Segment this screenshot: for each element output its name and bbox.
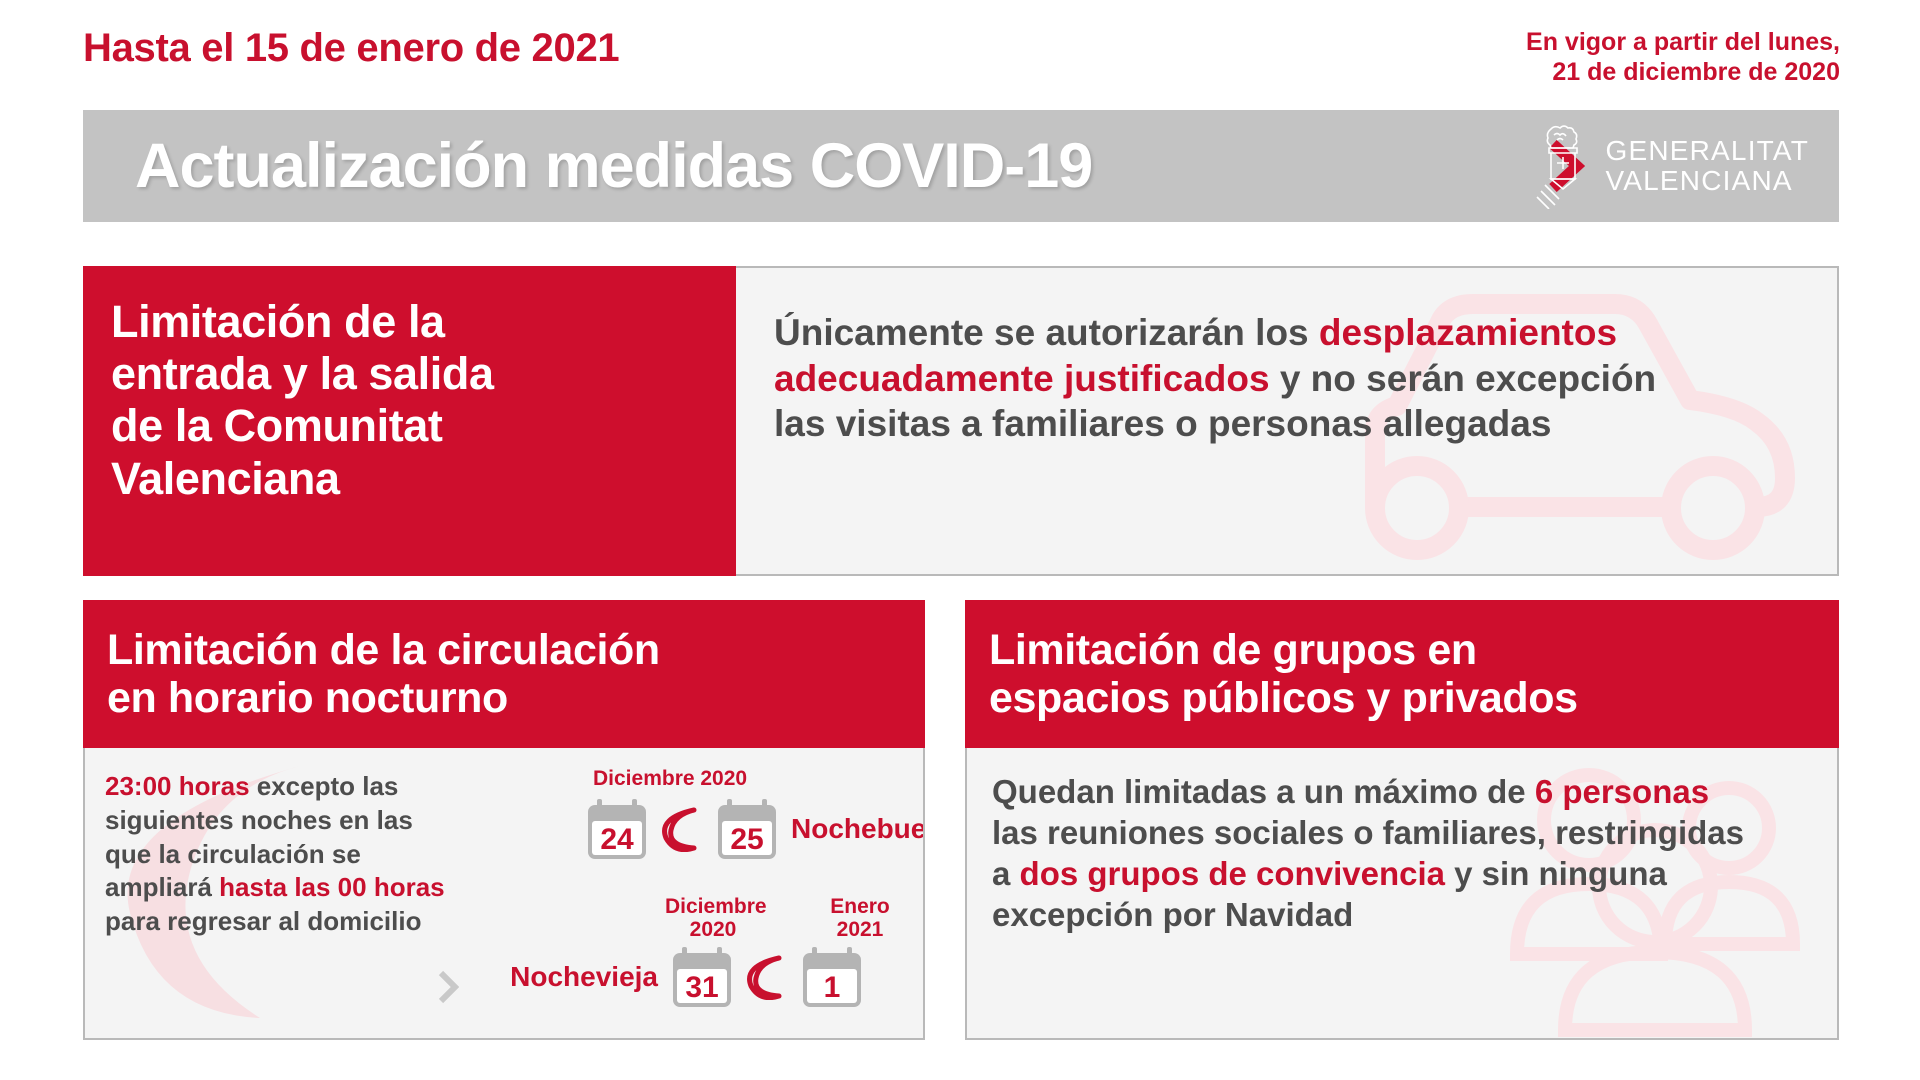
groups-body-part-3: dos grupos de convivencia [1020,855,1445,892]
mobility-body-part-0: Únicamente se autorizarán los [774,312,1319,353]
groups-card: Limitación de grupos en espacios público… [965,600,1839,1040]
groups-card-body: Quedan limitadas a un máximo de 6 person… [965,748,1839,1040]
curfew-body-part-0: 23:00 horas [105,771,250,801]
calendar-day-number: 24 [600,823,634,856]
calendar-group-nochevieja: Diciembre 2020 Enero 2021 Nochevieja 31 [480,896,905,1009]
mobility-title-block: Limitación de la entrada y la salida de … [83,266,736,576]
groups-card-header: Limitación de grupos en espacios público… [965,600,1839,748]
generalitat-valenciana-logo: GENERALITAT VALENCIANA [1535,123,1809,209]
calendar-icon-31: 31 [670,945,734,1009]
mobility-body-text: Únicamente se autorizarán los desplazami… [774,310,1674,447]
curfew-card: Limitación de la circulación en horario … [83,600,925,1040]
generalitat-crest-icon [1535,123,1591,209]
curfew-body-text: 23:00 horas excepto las siguientes noche… [105,770,450,939]
moon-icon [746,954,788,1000]
calendar-icon-1: 1 [800,945,864,1009]
calendar-event-name-nochebuena: Nochebuena [791,813,925,845]
page-title: Actualización medidas COVID-19 [135,130,1092,202]
curfew-body-part-2: hasta las 00 horas [219,872,444,902]
calendar-icon-25: 25 [715,797,779,861]
in-force-from-label: En vigor a partir del lunes, 21 de dicie… [1526,28,1840,87]
groups-body-part-0: Quedan limitadas a un máximo de [992,773,1535,810]
groups-body-part-1: 6 personas [1535,773,1709,810]
curfew-title: Limitación de la circulación en horario … [107,626,660,722]
calendar-day-number: 25 [730,823,763,856]
groups-body-text: Quedan limitadas a un máximo de 6 person… [992,772,1752,936]
calendar-group-nochebuena: Diciembre 2020 24 25 [585,768,925,861]
moon-icon [661,806,703,852]
curfew-card-header: Limitación de la circulación en horario … [83,600,925,748]
mobility-restriction-panel: Limitación de la entrada y la salida de … [83,266,1839,576]
calendar-month-label-jan: Enero 2021 [815,896,905,941]
calendar-month-label-dec: Diciembre 2020 [665,896,761,941]
curfew-card-body: 23:00 horas excepto las siguientes noche… [83,748,925,1040]
calendar-month-label-nochebuena: Diciembre 2020 [593,768,925,791]
mobility-title: Limitación de la entrada y la salida de … [111,296,708,505]
calendar-day-number: 1 [824,971,841,1004]
groups-title: Limitación de grupos en espacios público… [989,626,1578,722]
curfew-body-part-3: para regresar al domicilio [105,906,421,936]
calendar-event-name-nochevieja: Nochevieja [480,961,658,993]
top-date-row: Hasta el 15 de enero de 2021 En vigor a … [0,0,1920,110]
calendar-icon-24: 24 [585,797,649,861]
chevron-right-icon [437,970,459,1004]
valid-until-label: Hasta el 15 de enero de 2021 [83,26,619,71]
logo-wordmark: GENERALITAT VALENCIANA [1605,136,1809,196]
title-banner: Actualización medidas COVID-19 GENERALIT… [83,110,1839,222]
mobility-detail-block: Únicamente se autorizarán los desplazami… [736,266,1839,576]
calendar-day-number: 31 [685,971,718,1004]
